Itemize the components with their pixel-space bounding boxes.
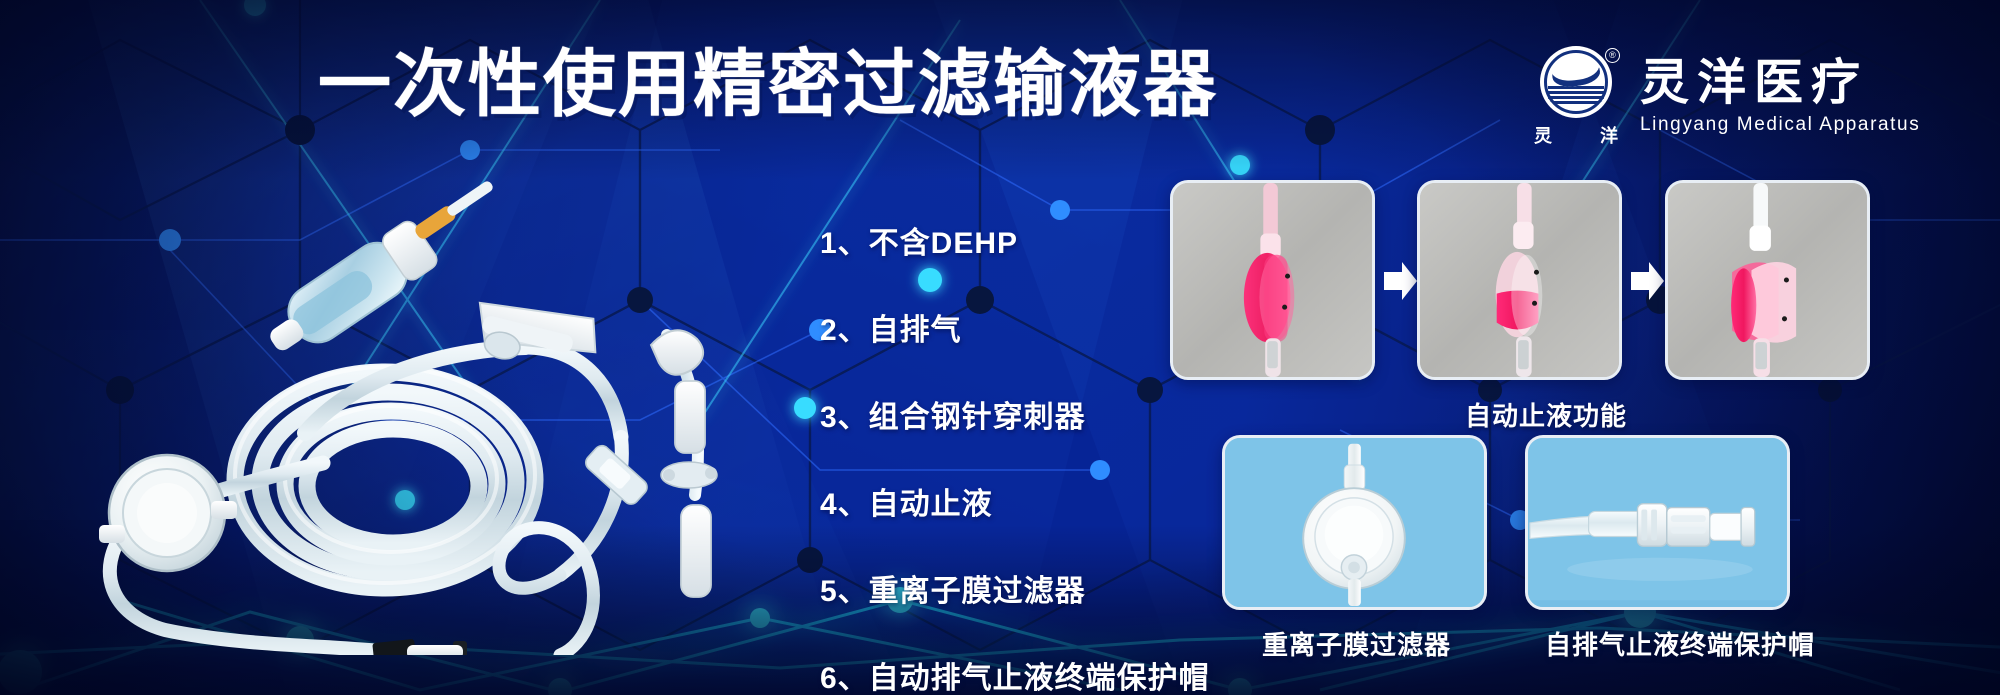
logo-char-left: 灵 (1534, 122, 1552, 148)
brand-name-cn: 灵洋医疗 (1640, 58, 1920, 109)
product-card-caption-cap: 自排气止液终端保护帽 (1545, 625, 1815, 662)
sequence-arrow-2-icon (1627, 258, 1667, 304)
hero-product-image (55, 175, 815, 655)
feature-item-5: 5、重离子膜过滤器 (820, 566, 1210, 610)
drip-chamber-full-photo (1173, 183, 1372, 377)
sequence-caption: 自动止液功能 (1465, 396, 1627, 433)
feature-item-2: 2、自排气 (820, 305, 1210, 349)
drip-chamber (257, 175, 513, 367)
drip-chamber-half-photo (1420, 183, 1619, 377)
logo-circle-icon (1540, 46, 1612, 118)
sequence-photo-2 (1417, 180, 1622, 380)
logo-emblem: ® 灵 洋 (1530, 46, 1622, 148)
feature-item-3: 3、组合钢针穿刺器 (820, 392, 1210, 436)
sequence-photo-3 (1665, 180, 1870, 380)
brand-name-en: Lingyang Medical Apparatus (1640, 114, 1920, 136)
sequence-photo-1 (1170, 180, 1375, 380)
product-card-cap (1525, 435, 1790, 610)
heavy-ion-membrane-filter-photo (1225, 438, 1484, 607)
feature-item-4: 4、自动止液 (820, 479, 1210, 523)
logo-inner-ring (1544, 50, 1608, 114)
product-banner: 一次性使用精密过滤输液器 ® 灵 洋 灵洋医疗 Lingyang Medical… (0, 0, 2000, 695)
product-card-caption-filter: 重离子膜过滤器 (1262, 625, 1451, 662)
brand-logo: ® 灵 洋 灵洋医疗 Lingyang Medical Apparatus (1530, 46, 1920, 148)
feature-item-1: 1、不含DEHP (820, 218, 1210, 262)
page-title: 一次性使用精密过滤输液器 (318, 48, 1218, 121)
feature-item-6: 6、自动排气止液终端保护帽 (820, 653, 1210, 695)
logo-subchars: 灵 洋 (1530, 122, 1622, 148)
logo-text-block: 灵洋医疗 Lingyang Medical Apparatus (1640, 58, 1920, 135)
feature-list: 1、不含DEHP 2、自排气 3、组合钢针穿刺器 4、自动止液 5、重离子膜过滤… (820, 218, 1210, 695)
product-card-filter (1222, 435, 1487, 610)
self-venting-terminal-cap-photo (1528, 438, 1787, 607)
drip-chamber-stopped-photo (1668, 183, 1867, 377)
logo-char-right: 洋 (1600, 122, 1618, 148)
registered-icon: ® (1605, 48, 1620, 63)
sequence-arrow-1-icon (1380, 258, 1420, 304)
needle-assembly (651, 330, 717, 597)
